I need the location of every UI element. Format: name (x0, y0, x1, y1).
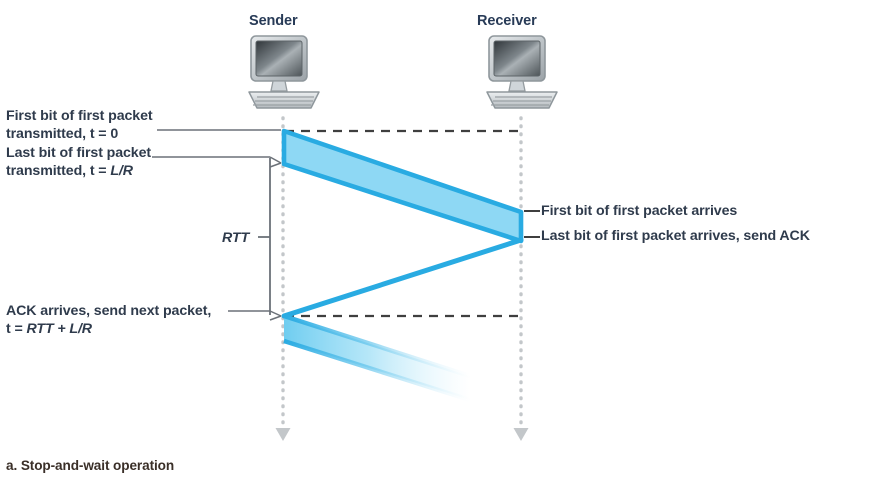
annotation-line-2-italic: RTT + L/R (27, 321, 92, 337)
receiver-host-label: Receiver (477, 13, 537, 29)
leader-ack-arrives (228, 311, 281, 320)
annotation-line-2-text: transmitted, t = 0 (6, 126, 118, 142)
annotation-first-bit-arrives: First bit of first packet arrives (541, 203, 737, 221)
annotation-line-2-text: t = (6, 321, 27, 337)
packet-band-ack (284, 240, 521, 316)
annotation-line-1: Last bit of first packet (6, 145, 151, 163)
desktop-computer-icon-sender (249, 36, 319, 108)
packet-band-next-packet (284, 316, 470, 400)
desktop-computer-icon-receiver (487, 36, 557, 108)
annotation-line-1: ACK arrives, send next packet, (6, 303, 211, 321)
rtt-bracket (258, 158, 270, 315)
annotation-line-2: t = RTT + L/R (6, 321, 211, 339)
annotation-line-2-text: transmitted, t = (6, 163, 110, 179)
annotation-line-2-italic: L/R (110, 163, 133, 179)
annotation-line-2: transmitted, t = 0 (6, 126, 153, 144)
leader-last-bit-transmitted (152, 157, 281, 167)
packet-band-first-packet (284, 131, 521, 241)
diagram-canvas: Sender Receiver First bit of first packe… (0, 0, 869, 487)
annotation-last-bit-transmitted: Last bit of first packet transmitted, t … (6, 145, 151, 180)
annotation-line-2: transmitted, t = L/R (6, 163, 151, 181)
annotation-first-bit-transmitted: First bit of first packet transmitted, t… (6, 108, 153, 143)
annotation-ack-arrives: ACK arrives, send next packet, t = RTT +… (6, 303, 211, 338)
sender-host-label: Sender (249, 13, 298, 29)
figure-caption: a. Stop-and-wait operation (6, 458, 174, 473)
rtt-span-label: RTT (222, 230, 249, 246)
annotation-line-1: First bit of first packet (6, 108, 153, 126)
annotation-last-bit-arrives: Last bit of first packet arrives, send A… (541, 228, 810, 246)
receiver-timeline (514, 118, 529, 441)
